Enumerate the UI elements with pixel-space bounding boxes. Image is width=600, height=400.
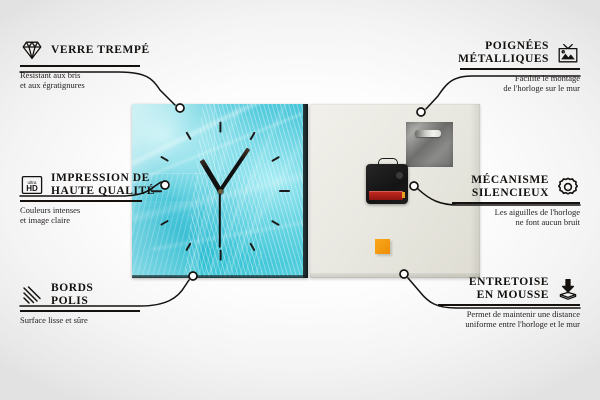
callout-title: BORDSPOLIS: [51, 282, 93, 307]
callout-entretoise-en-mousse: ENTRETOISEEN MOUSSE Permet de maintenir …: [438, 276, 580, 330]
callout-title: ENTRETOISEEN MOUSSE: [469, 276, 549, 301]
callout-description: Résistant aux bris et aux égratignures: [20, 70, 140, 91]
callout-impression-haute-qualite: ultra HD IMPRESSION DEHAUTE QUALITÉ Coul…: [20, 172, 142, 226]
mechanism-hook: [378, 158, 398, 167]
callout-title: POIGNÉESMÉTALLIQUES: [458, 40, 549, 65]
wall-mount-frame-icon: [556, 41, 580, 65]
callout-header: BORDSPOLIS: [20, 282, 140, 307]
clock-second-hand: [219, 191, 221, 248]
clock-tick: [219, 249, 221, 260]
callout-poignees-metalliques: POIGNÉESMÉTALLIQUES Facilite le montage …: [460, 40, 580, 94]
callout-rule: [20, 310, 140, 312]
foam-spacer: [375, 239, 390, 254]
clock-tick: [279, 190, 290, 192]
battery: [369, 191, 403, 200]
callout-title: VERRE TREMPÉ: [51, 44, 150, 57]
polished-edges-icon: [20, 283, 44, 307]
clock-bottom-edge: [132, 275, 308, 278]
metal-hanger-plate: [406, 122, 453, 167]
diamond-icon: [20, 38, 44, 62]
callout-header: ENTRETOISEEN MOUSSE: [438, 276, 580, 301]
callout-header: VERRE TREMPÉ: [20, 38, 140, 62]
clock-center-pin: [218, 189, 223, 194]
callout-description: Les aiguilles de l'horloge ne font aucun…: [452, 207, 580, 228]
callout-rule: [20, 65, 140, 67]
callout-description: Permet de maintenir une distance uniform…: [438, 309, 580, 330]
gear-icon: [556, 175, 580, 199]
callout-rule: [438, 304, 580, 306]
callout-rule: [20, 200, 142, 202]
callout-bords-polis: BORDSPOLIS Surface lisse et sûre: [20, 282, 140, 325]
mechanism-adjust-dial: [396, 172, 403, 179]
callout-header: POIGNÉESMÉTALLIQUES: [460, 40, 580, 65]
clock-tick: [219, 121, 221, 132]
product-photo: [132, 104, 480, 278]
callout-header: MÉCANISMESILENCIEUX: [452, 174, 580, 199]
callout-title: MÉCANISMESILENCIEUX: [471, 174, 549, 199]
callout-header: ultra HD IMPRESSION DEHAUTE QUALITÉ: [20, 172, 142, 197]
hanger-slot: [415, 130, 441, 137]
infographic-canvas: VERRE TREMPÉ Résistant aux bris et aux é…: [0, 0, 600, 400]
ultra-hd-icon: ultra HD: [20, 173, 44, 197]
callout-description: Couleurs intenses et image claire: [20, 205, 142, 226]
callout-description: Surface lisse et sûre: [20, 315, 140, 326]
quartz-mechanism-box: [366, 164, 408, 204]
callout-mecanisme-silencieux: MÉCANISMESILENCIEUX Les aiguilles de l'h…: [452, 174, 580, 228]
callout-rule: [452, 202, 580, 204]
clock-front-face: [132, 104, 308, 278]
callout-title: IMPRESSION DEHAUTE QUALITÉ: [51, 172, 155, 197]
svg-text:HD: HD: [26, 184, 38, 193]
callout-description: Facilite le montage de l'horloge sur le …: [460, 73, 580, 94]
clock-side-edge: [303, 104, 308, 278]
foam-spacer-arrow-icon: [556, 277, 580, 301]
callout-verre-trempe: VERRE TREMPÉ Résistant aux bris et aux é…: [20, 38, 140, 91]
callout-rule: [460, 68, 580, 70]
